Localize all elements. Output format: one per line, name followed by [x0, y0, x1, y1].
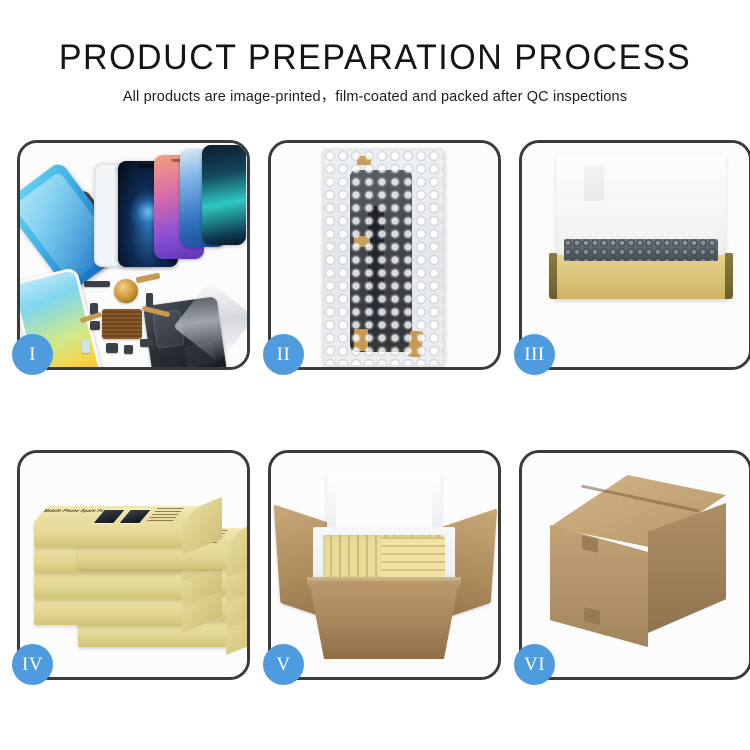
process-step-panel-4: Mobile Phone Spare Parts Mobile Phone Sp…: [17, 450, 250, 680]
process-step-grid: I II: [17, 140, 738, 680]
retail-box-image: [34, 599, 184, 625]
part-chip-image: [84, 281, 110, 287]
step-badge-2: II: [263, 334, 304, 375]
logic-board-part-image: [102, 309, 142, 339]
retail-box-image-top-back: Mobile Phone Spare Parts: [34, 521, 184, 547]
panel-photo-4: Mobile Phone Spare Parts Mobile Phone Sp…: [20, 453, 247, 677]
header: PRODUCT PREPARATION PROCESS All products…: [0, 38, 750, 106]
step-badge-1: I: [12, 334, 53, 375]
scene-phones-and-parts: [20, 143, 247, 367]
part-chip-image: [106, 343, 118, 353]
product-preparation-infographic: PRODUCT PREPARATION PROCESS All products…: [0, 0, 750, 750]
scene-closed-carton: [522, 453, 749, 677]
connector-image: [408, 330, 424, 357]
bubble-wrapped-contents-image: [564, 239, 718, 261]
retail-box-image: [34, 573, 184, 599]
kraft-box-tray-image: [552, 255, 730, 299]
scene-open-carton: [271, 453, 498, 677]
packed-yellow-boxes-image: [381, 537, 445, 577]
step-badge-5: V: [263, 644, 304, 685]
part-chip-image: [90, 321, 100, 330]
phone-teal-image: [202, 145, 246, 245]
process-step-panel-2: II: [268, 140, 501, 370]
part-chip-image: [140, 339, 154, 347]
process-step-panel-6: VI: [519, 450, 750, 680]
box-edge-left-image: [549, 253, 557, 299]
panel-photo-1: [20, 143, 247, 367]
tape-piece-image: [354, 236, 370, 247]
scene-box-stack: Mobile Phone Spare Parts Mobile Phone Sp…: [20, 453, 247, 677]
scene-bubble-wrapped-part: [271, 143, 498, 367]
part-flex-strip-image: [368, 206, 384, 336]
box-edge-right-image: [725, 253, 733, 299]
part-chip-image: [124, 345, 133, 354]
part-chip-image: [82, 339, 90, 353]
step-badge-3: III: [514, 334, 555, 375]
process-step-panel-5: V: [268, 450, 501, 680]
scene-open-flat-box: [522, 143, 749, 367]
process-step-panel-1: I: [17, 140, 250, 370]
carton-body-image: [309, 581, 459, 659]
retail-box-stack-image: Mobile Phone Spare Parts Mobile Phone Sp…: [26, 471, 242, 667]
page-subtitle: All products are image-printed，film-coat…: [0, 85, 750, 106]
process-step-panel-3: III: [519, 140, 750, 370]
panel-photo-3: [522, 143, 749, 367]
tape-piece-image: [357, 156, 371, 165]
step-badge-6: VI: [514, 644, 555, 685]
connector-image: [354, 329, 368, 351]
page-title: PRODUCT PREPARATION PROCESS: [11, 38, 739, 78]
speaker-coil-part-image: [114, 279, 138, 303]
panel-photo-2: [271, 143, 498, 367]
step-badge-4: IV: [12, 644, 53, 685]
panel-photo-6: [522, 453, 749, 677]
bubble-wrap-bag-image: [323, 149, 445, 366]
panel-photo-5: [271, 453, 498, 677]
